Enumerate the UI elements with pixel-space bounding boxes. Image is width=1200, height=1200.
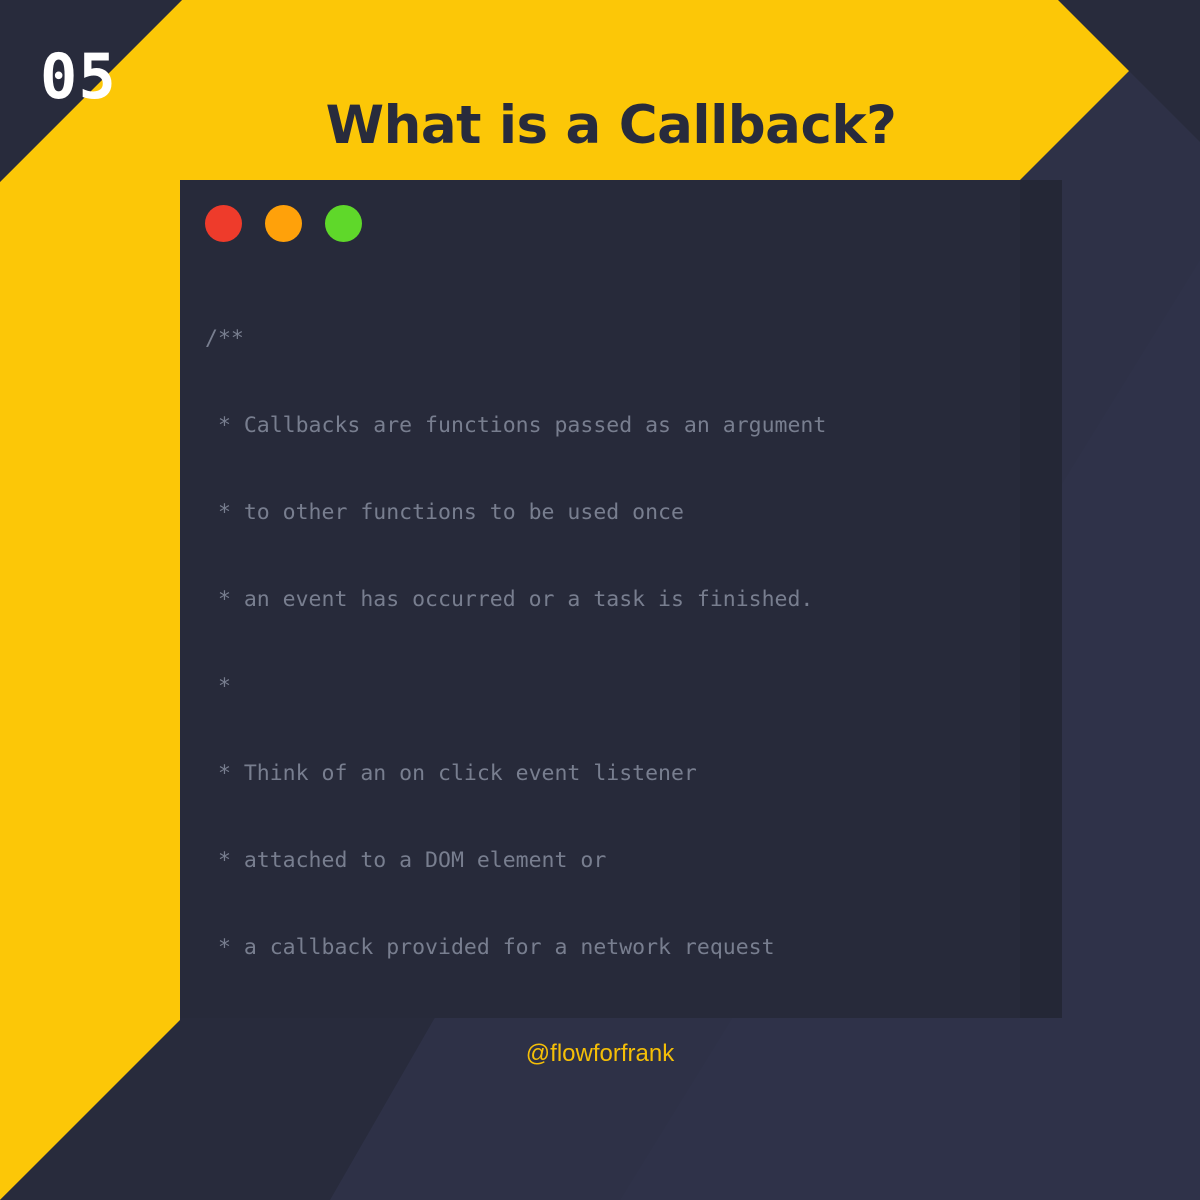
code-line: * Think of an on click event listener xyxy=(205,759,1010,788)
code-line: /** xyxy=(205,324,1010,353)
code-window: /** * Callbacks are functions passed as … xyxy=(180,180,1020,1018)
code-line: * Callbacks are functions passed as an a… xyxy=(205,411,1010,440)
author-handle[interactable]: @flowforfrank xyxy=(180,1040,1020,1068)
page-title: What is a Callback? xyxy=(0,95,1200,156)
code-editor-content[interactable]: /** * Callbacks are functions passed as … xyxy=(205,266,1010,1018)
code-line: * a callback provided for a network requ… xyxy=(205,933,1010,962)
code-panel-shadow xyxy=(1020,180,1062,1018)
slide-canvas: 05 What is a Callback? /** * Callbacks a… xyxy=(0,0,1200,1200)
maximize-window-icon[interactable] xyxy=(325,205,362,242)
code-line: * an event has occurred or a task is fin… xyxy=(205,585,1010,614)
code-window-titlebar xyxy=(205,205,362,242)
minimize-window-icon[interactable] xyxy=(265,205,302,242)
code-line: * to other functions to be used once xyxy=(205,498,1010,527)
close-window-icon[interactable] xyxy=(205,205,242,242)
code-line: * attached to a DOM element or xyxy=(205,846,1010,875)
code-line: * xyxy=(205,672,1010,701)
